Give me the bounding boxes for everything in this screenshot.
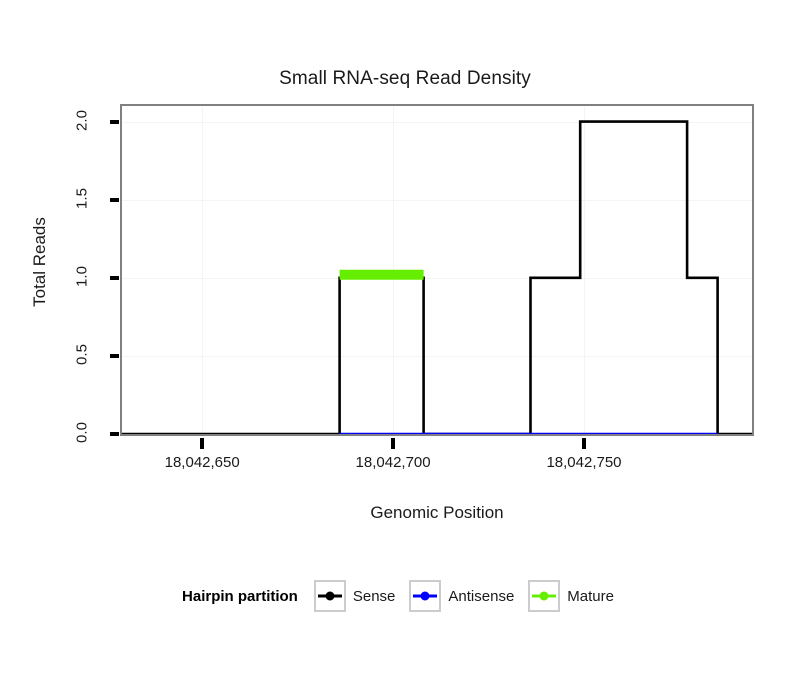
plot-surface <box>122 106 752 434</box>
legend-key-icon <box>314 580 346 612</box>
legend-item-mature[interactable]: Mature <box>528 580 614 612</box>
legend-label: Antisense <box>448 588 514 605</box>
chart-legend: Hairpin partition SenseAntisenseMature <box>0 580 810 612</box>
y-tick-label: 2.0 <box>74 96 91 144</box>
x-tick-mark <box>582 438 586 449</box>
x-tick-label: 18,042,750 <box>514 454 654 471</box>
x-tick-mark <box>200 438 204 449</box>
legend-key-dot-icon <box>421 592 430 601</box>
y-tick-mark <box>110 354 119 358</box>
legend-title: Hairpin partition <box>182 588 298 605</box>
y-tick-mark <box>110 432 119 436</box>
y-tick-label: 1.5 <box>74 174 91 222</box>
legend-key-dot-icon <box>325 592 334 601</box>
legend-item-sense[interactable]: Sense <box>314 580 396 612</box>
y-tick-label: 1.0 <box>74 252 91 300</box>
series-layer <box>122 106 752 434</box>
series-sense <box>122 122 752 434</box>
legend-item-antisense[interactable]: Antisense <box>409 580 514 612</box>
plot-panel <box>120 104 754 436</box>
legend-label: Mature <box>567 588 614 605</box>
legend-key-icon <box>409 580 441 612</box>
legend-key-dot-icon <box>540 592 549 601</box>
y-tick-label: 0.0 <box>74 409 91 457</box>
x-tick-label: 18,042,650 <box>132 454 272 471</box>
chart-root: Small RNA-seq Read Density Total Reads 0… <box>0 0 810 690</box>
y-tick-mark <box>110 120 119 124</box>
legend-key-icon <box>528 580 560 612</box>
x-tick-mark <box>391 438 395 449</box>
y-tick-label: 0.5 <box>74 330 91 378</box>
chart-title: Small RNA-seq Read Density <box>0 68 810 90</box>
y-axis-title: Total Reads <box>30 192 50 332</box>
legend-label: Sense <box>353 588 396 605</box>
legend-items: SenseAntisenseMature <box>314 580 628 612</box>
y-tick-mark <box>110 276 119 280</box>
x-tick-label: 18,042,700 <box>323 454 463 471</box>
x-axis-title: Genomic Position <box>120 503 754 523</box>
y-tick-mark <box>110 198 119 202</box>
